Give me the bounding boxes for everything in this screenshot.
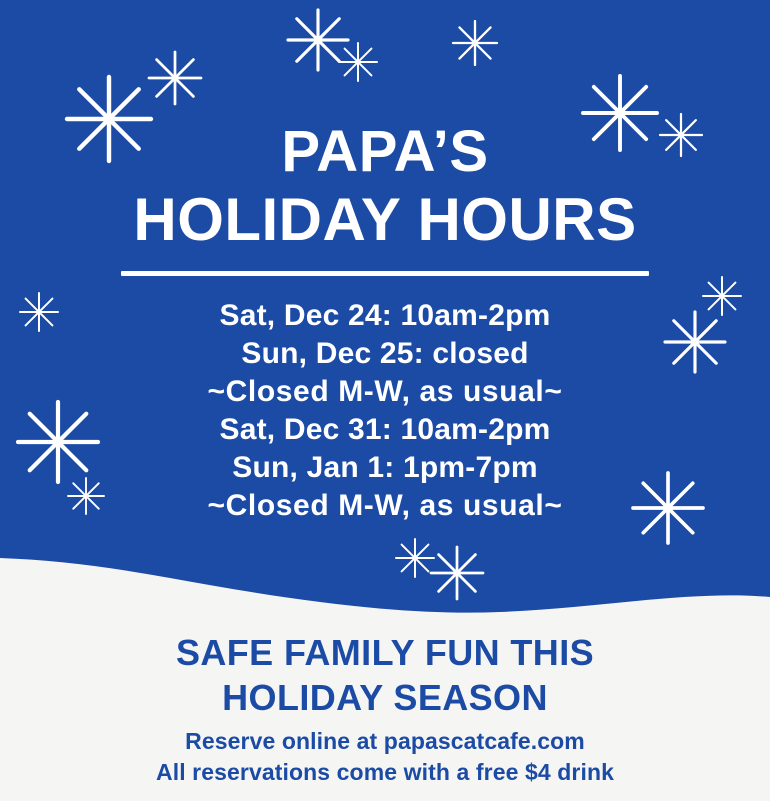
hours-note-closed-mw-2: ~Closed M-W, as usual~	[0, 487, 770, 525]
holiday-hours-poster: PAPA’S HOLIDAY HOURS Sat, Dec 24: 10am-2…	[0, 0, 770, 801]
hours-line-jan-1: Sun, Jan 1: 1pm-7pm	[0, 449, 770, 487]
hours-line-dec-25: Sun, Dec 25: closed	[0, 335, 770, 373]
hours-note-closed-mw-1: ~Closed M-W, as usual~	[0, 373, 770, 411]
footer-headline-line-1: SAFE FAMILY FUN THIS	[0, 630, 770, 675]
footer-headline-line-2: HOLIDAY SEASON	[0, 675, 770, 720]
page-title-line-1: PAPA’S	[0, 118, 770, 186]
title-divider	[121, 271, 649, 276]
holiday-hours-list: Sat, Dec 24: 10am-2pm Sun, Dec 25: close…	[0, 297, 770, 525]
poster-top-section: PAPA’S HOLIDAY HOURS Sat, Dec 24: 10am-2…	[0, 0, 770, 525]
poster-bottom-section: SAFE FAMILY FUN THIS HOLIDAY SEASON Rese…	[0, 617, 770, 788]
reservation-promo-text: All reservations come with a free $4 dri…	[0, 757, 770, 788]
page-title-line-2: HOLIDAY HOURS	[0, 186, 770, 254]
hours-line-dec-31: Sat, Dec 31: 10am-2pm	[0, 411, 770, 449]
reservation-website-text[interactable]: Reserve online at papascatcafe.com	[0, 726, 770, 757]
hours-line-dec-24: Sat, Dec 24: 10am-2pm	[0, 297, 770, 335]
